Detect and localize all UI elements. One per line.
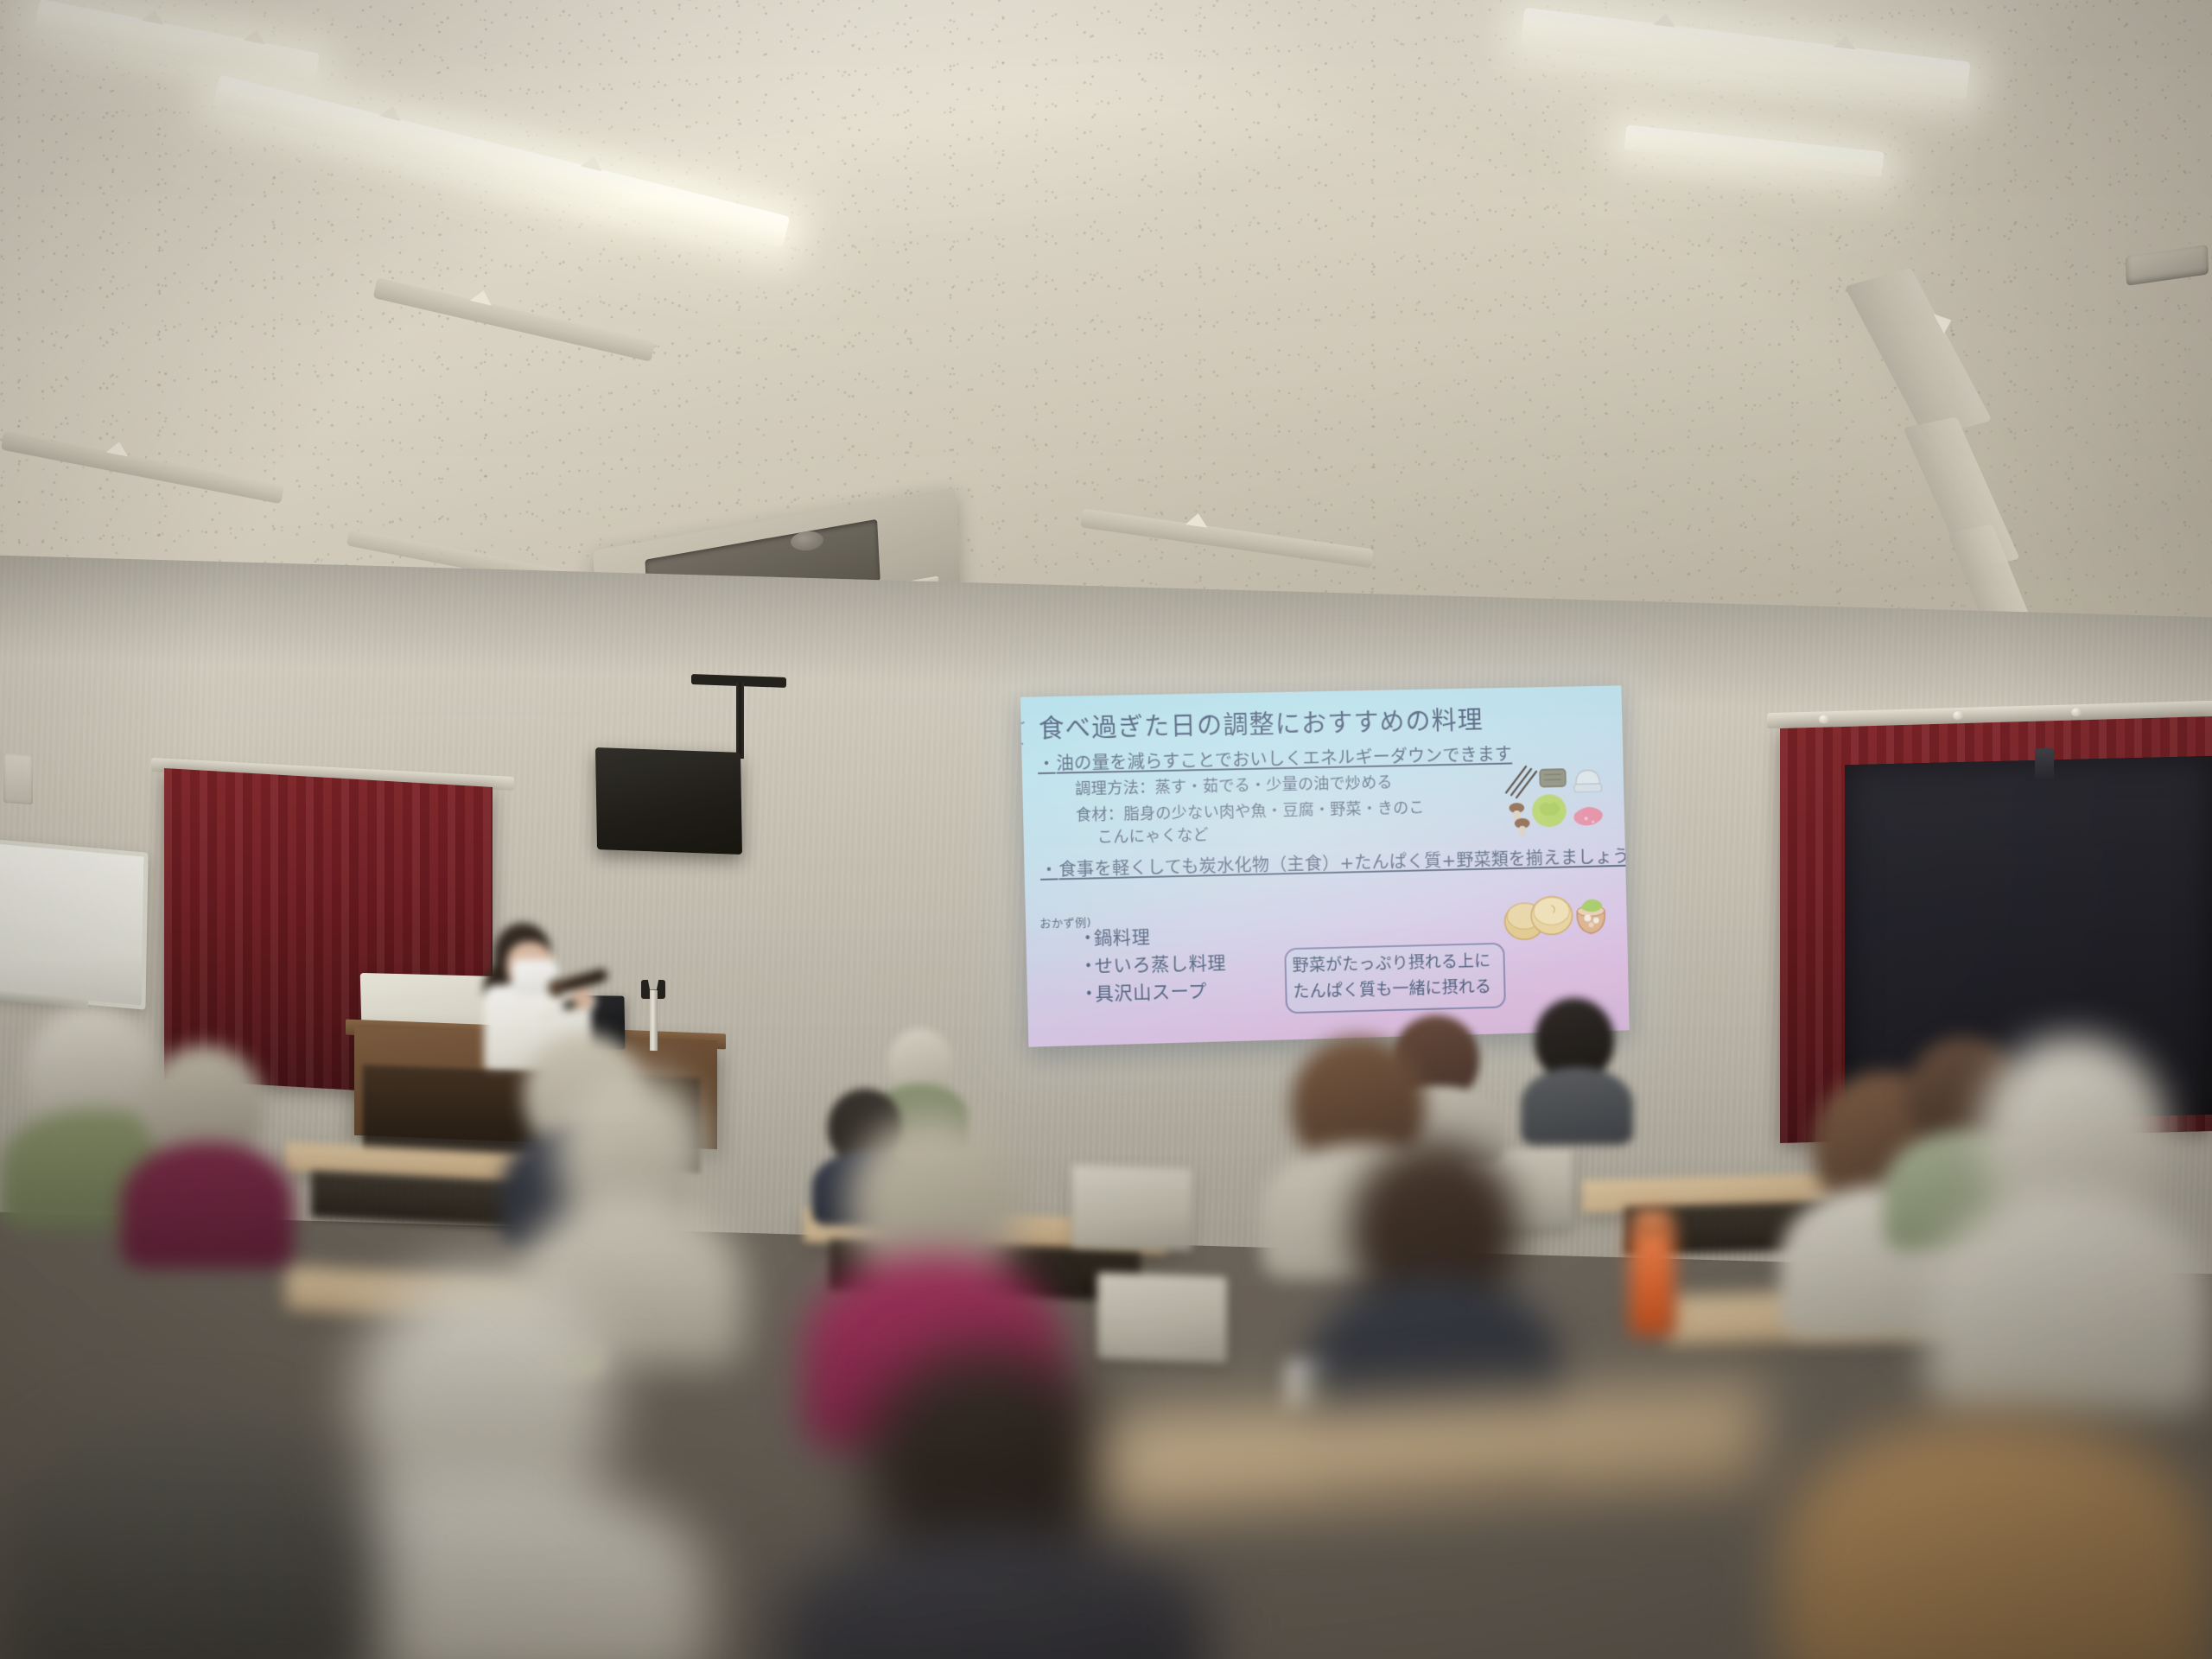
curtain-ring bbox=[1819, 715, 1829, 723]
chair-back bbox=[1071, 1165, 1192, 1252]
bullet-marker: ・ bbox=[1040, 859, 1058, 880]
shoulders bbox=[1521, 1067, 1633, 1145]
whiteboard bbox=[0, 837, 149, 1009]
projection-screen: 食べ過ぎた日の調整におすすめの料理 ・油の量を減らすことでおいしくエネルギーダウ… bbox=[1020, 685, 1630, 1046]
ceiling-mounted-speaker bbox=[595, 747, 742, 855]
shoulders bbox=[121, 1142, 294, 1268]
shoulders bbox=[778, 1529, 1210, 1659]
slide-bullet-2: ・食事を軽くしても炭水化物（主食）+たんぱく質+野菜類を揃えましょう bbox=[1040, 847, 1609, 880]
callout-line-2: たんぱく質も一緒に摂れる bbox=[1293, 976, 1500, 1004]
audience-member bbox=[1521, 998, 1633, 1136]
bullet-marker: • bbox=[1085, 986, 1094, 1001]
shoulders bbox=[0, 1417, 380, 1659]
list-item: •具沢山スープ bbox=[1085, 977, 1228, 1008]
bullet-marker: • bbox=[1084, 958, 1093, 974]
slide-title: 食べ過ぎた日の調整におすすめの料理 bbox=[1039, 705, 1605, 743]
seminar-room-photo: 食べ過ぎた日の調整におすすめの料理 ・油の量を減らすことでおいしくエネルギーダウ… bbox=[0, 0, 2212, 1659]
slide-bullet-1-text: 油の量を減らすことでおいしくエネルギーダウンできます bbox=[1056, 744, 1512, 774]
okazu-item-3: 具沢山スープ bbox=[1095, 981, 1207, 1005]
shoulders bbox=[1780, 1417, 2212, 1659]
ingredients-illustration bbox=[1503, 761, 1613, 842]
callout-line-1: 野菜がたっぷり摂れる上に bbox=[1292, 950, 1499, 978]
projected-slide: 食べ過ぎた日の調整におすすめの料理 ・油の量を減らすことでおいしくエネルギーダウ… bbox=[1020, 685, 1630, 1046]
stage-panel-clip bbox=[2035, 748, 2054, 780]
speaker-pole bbox=[736, 683, 744, 759]
slide-bullet-2-text: 食事を軽くしても炭水化物（主食）+たんぱく質+野菜類を揃えましょう bbox=[1058, 846, 1630, 880]
audience-member bbox=[1780, 1417, 2212, 1659]
shoulders bbox=[1927, 1192, 2212, 1414]
callout-tail-icon bbox=[1020, 720, 1025, 747]
curtain-ring bbox=[2071, 708, 2082, 716]
wall-switch-panel[interactable] bbox=[3, 753, 33, 804]
audience-member bbox=[121, 1046, 294, 1262]
list-item: •鍋料理 bbox=[1084, 922, 1226, 953]
audience-member bbox=[1927, 1037, 2212, 1408]
orange-thermos-bottle bbox=[1630, 1227, 1675, 1336]
list-item: •せいろ蒸し料理 bbox=[1084, 950, 1227, 981]
okazu-item-2: せいろ蒸し料理 bbox=[1094, 952, 1226, 976]
callout-bubble: 野菜がたっぷり摂れる上に たんぱく質も一緒に摂れる bbox=[1284, 943, 1506, 1014]
audience-member bbox=[0, 1382, 380, 1659]
bullet-marker: ・ bbox=[1038, 753, 1056, 775]
dishes-illustration bbox=[1502, 885, 1609, 953]
curtain-ring bbox=[1953, 711, 1963, 720]
okazu-examples-list: •鍋料理 •せいろ蒸し料理 •具沢山スープ bbox=[1084, 922, 1227, 1008]
okazu-item-1: 鍋料理 bbox=[1094, 926, 1151, 949]
bullet-marker: • bbox=[1084, 931, 1092, 946]
